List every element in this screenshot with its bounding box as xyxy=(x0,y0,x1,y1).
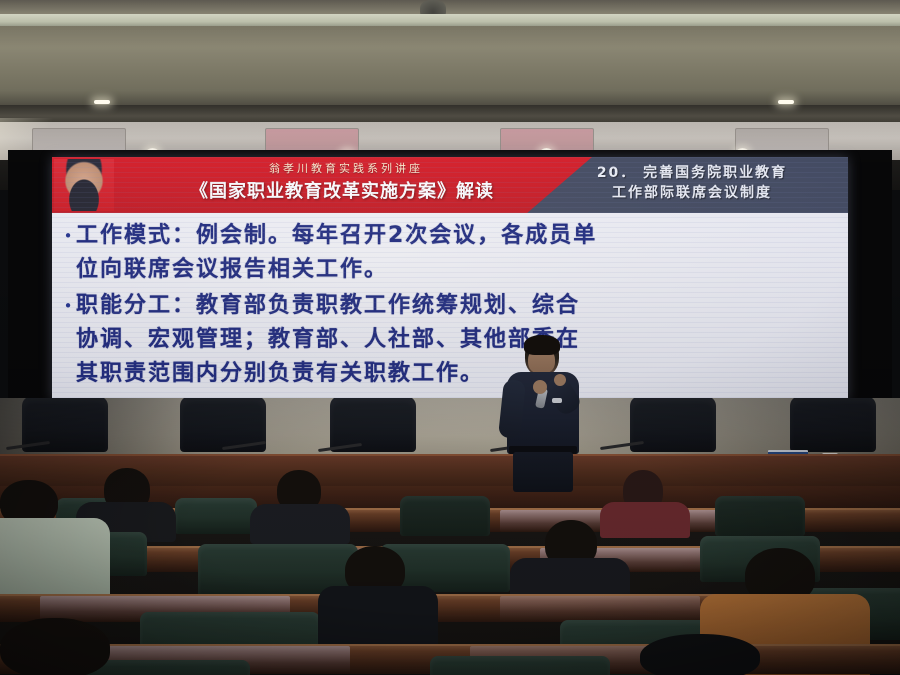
slide-bullet-line: 职能分工：教育部负责职教工作统筹规划、综合 xyxy=(76,289,832,323)
attendee-head xyxy=(0,618,110,675)
presenter-wristwatch xyxy=(552,398,562,403)
slide-bullet-text-block: 职能分工：教育部负责职教工作统筹规划、综合 协调、宏观管理；教育部、人社部、其他… xyxy=(76,289,832,391)
audience-seat xyxy=(430,656,610,675)
presenter-speaker xyxy=(497,336,589,476)
executive-chair xyxy=(790,398,876,452)
ceiling-panel-light xyxy=(735,128,829,152)
desk-reflection xyxy=(500,596,700,622)
slide-bullet-line: 工作模式：例会制。每年召开2次会议，各成员单 xyxy=(76,219,832,253)
slide-bullet-line: 协调、宏观管理；教育部、人社部、其他部委在 xyxy=(76,323,832,357)
attendee-body xyxy=(0,518,110,598)
audience-seat xyxy=(400,496,490,536)
slide-header-right-line2: 工作部际联席会议制度 xyxy=(542,183,842,203)
slide-bullet-line: 位向联席会议报告相关工作。 xyxy=(76,253,832,287)
slide-header-right-line1: 20． 完善国务院职业教育 xyxy=(542,163,842,183)
slide-bullet-line: 其职责范围内分别负责有关职教工作。 xyxy=(76,357,832,391)
audience-seat xyxy=(175,498,257,534)
attendee-body xyxy=(250,504,350,544)
attendee-body xyxy=(600,502,690,538)
lecture-hall-photo: 20． 完善国务院职业教育 工作部际联席会议制度 翁孝川教育实践系列讲座 《国家… xyxy=(0,0,900,675)
auditorium-room: 高老师 xyxy=(0,398,900,675)
slide-header-bar: 20． 完善国务院职业教育 工作部际联席会议制度 翁孝川教育实践系列讲座 《国家… xyxy=(52,157,848,213)
presenter-hand xyxy=(533,380,547,394)
slide-series-subtitle: 翁孝川教育实践系列讲座 xyxy=(156,160,536,176)
lecturer-portrait-photo xyxy=(54,159,114,211)
slide-bullet: • 职能分工：教育部负责职教工作统筹规划、综合 协调、宏观管理；教育部、人社部、… xyxy=(60,289,838,391)
ceiling-beam xyxy=(0,26,900,112)
audience-seat xyxy=(715,496,805,536)
presenter-legs xyxy=(513,452,573,492)
ceiling-slot-light xyxy=(778,100,794,104)
ceiling-panel-light xyxy=(32,128,126,152)
slide-bullet-text-block: 工作模式：例会制。每年召开2次会议，各成员单 位向联席会议报告相关工作。 xyxy=(76,219,832,287)
ceiling-panel-light xyxy=(265,128,359,152)
slide-main-title: 《国家职业教育改革实施方案》解读 xyxy=(132,177,552,203)
slide-body: • 工作模式：例会制。每年召开2次会议，各成员单 位向联席会议报告相关工作。 •… xyxy=(52,213,848,400)
presentation-slide: 20． 完善国务院职业教育 工作部际联席会议制度 翁孝川教育实践系列讲座 《国家… xyxy=(52,157,848,400)
attendee-head xyxy=(640,634,760,675)
ceiling-slot-light xyxy=(94,100,110,104)
bullet-dot-icon: • xyxy=(60,289,76,323)
presenter-hair xyxy=(524,335,560,355)
slide-bullet: • 工作模式：例会制。每年召开2次会议，各成员单 位向联席会议报告相关工作。 xyxy=(60,219,838,287)
presenter-hand xyxy=(554,374,566,386)
slide-header-right-panel: 20． 完善国务院职业教育 工作部际联席会议制度 xyxy=(542,163,842,204)
bullet-dot-icon: • xyxy=(60,219,76,253)
executive-chair xyxy=(330,398,416,452)
